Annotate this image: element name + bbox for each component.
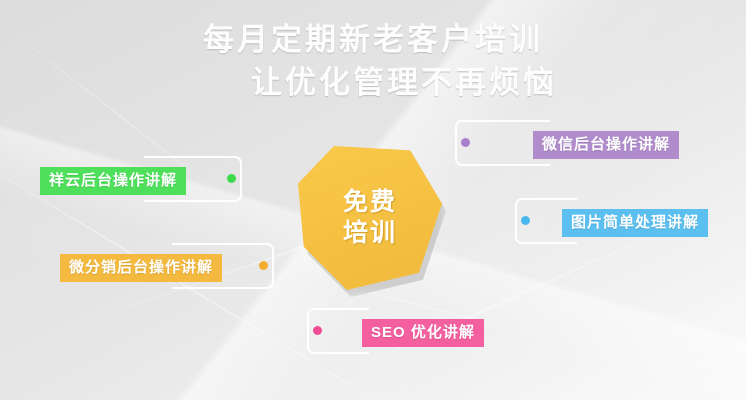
node-label-wechat[interactable]: 微信后台操作讲解 <box>533 131 679 159</box>
center-hexagon: 免费 培训 <box>298 146 442 290</box>
hexagon-label-line-1: 免费 <box>343 187 397 218</box>
connector-dot <box>227 174 236 183</box>
node-wechat[interactable]: 微信后台操作讲解 <box>455 120 685 166</box>
node-xiangyun[interactable]: 祥云后台操作讲解 <box>32 156 242 202</box>
connector-dot <box>461 138 470 147</box>
node-label-image[interactable]: 图片简单处理讲解 <box>562 209 708 237</box>
connector-dot <box>521 216 530 225</box>
headline: 每月定期新老客户培训 让优化管理不再烦恼 <box>0 18 746 104</box>
node-label-seo[interactable]: SEO 优化讲解 <box>362 319 484 347</box>
headline-line-2: 让优化管理不再烦恼 <box>0 61 746 104</box>
node-label-xiangyun[interactable]: 祥云后台操作讲解 <box>40 167 186 195</box>
node-seo[interactable]: SEO 优化讲解 <box>307 308 522 354</box>
hexagon-label-line-2: 培训 <box>343 218 397 249</box>
connector-dot <box>313 326 322 335</box>
node-image[interactable]: 图片简单处理讲解 <box>515 198 730 244</box>
hexagon-shape: 免费 培训 <box>298 146 442 290</box>
node-weifenxiao[interactable]: 微分销后台操作讲解 <box>52 243 274 289</box>
node-label-weifenxiao[interactable]: 微分销后台操作讲解 <box>60 254 222 282</box>
promo-banner: 每月定期新老客户培训 让优化管理不再烦恼 免费 培训 微信后台操作讲解 图片简单… <box>0 0 746 400</box>
headline-line-1: 每月定期新老客户培训 <box>0 18 746 61</box>
connector-dot <box>259 261 268 270</box>
